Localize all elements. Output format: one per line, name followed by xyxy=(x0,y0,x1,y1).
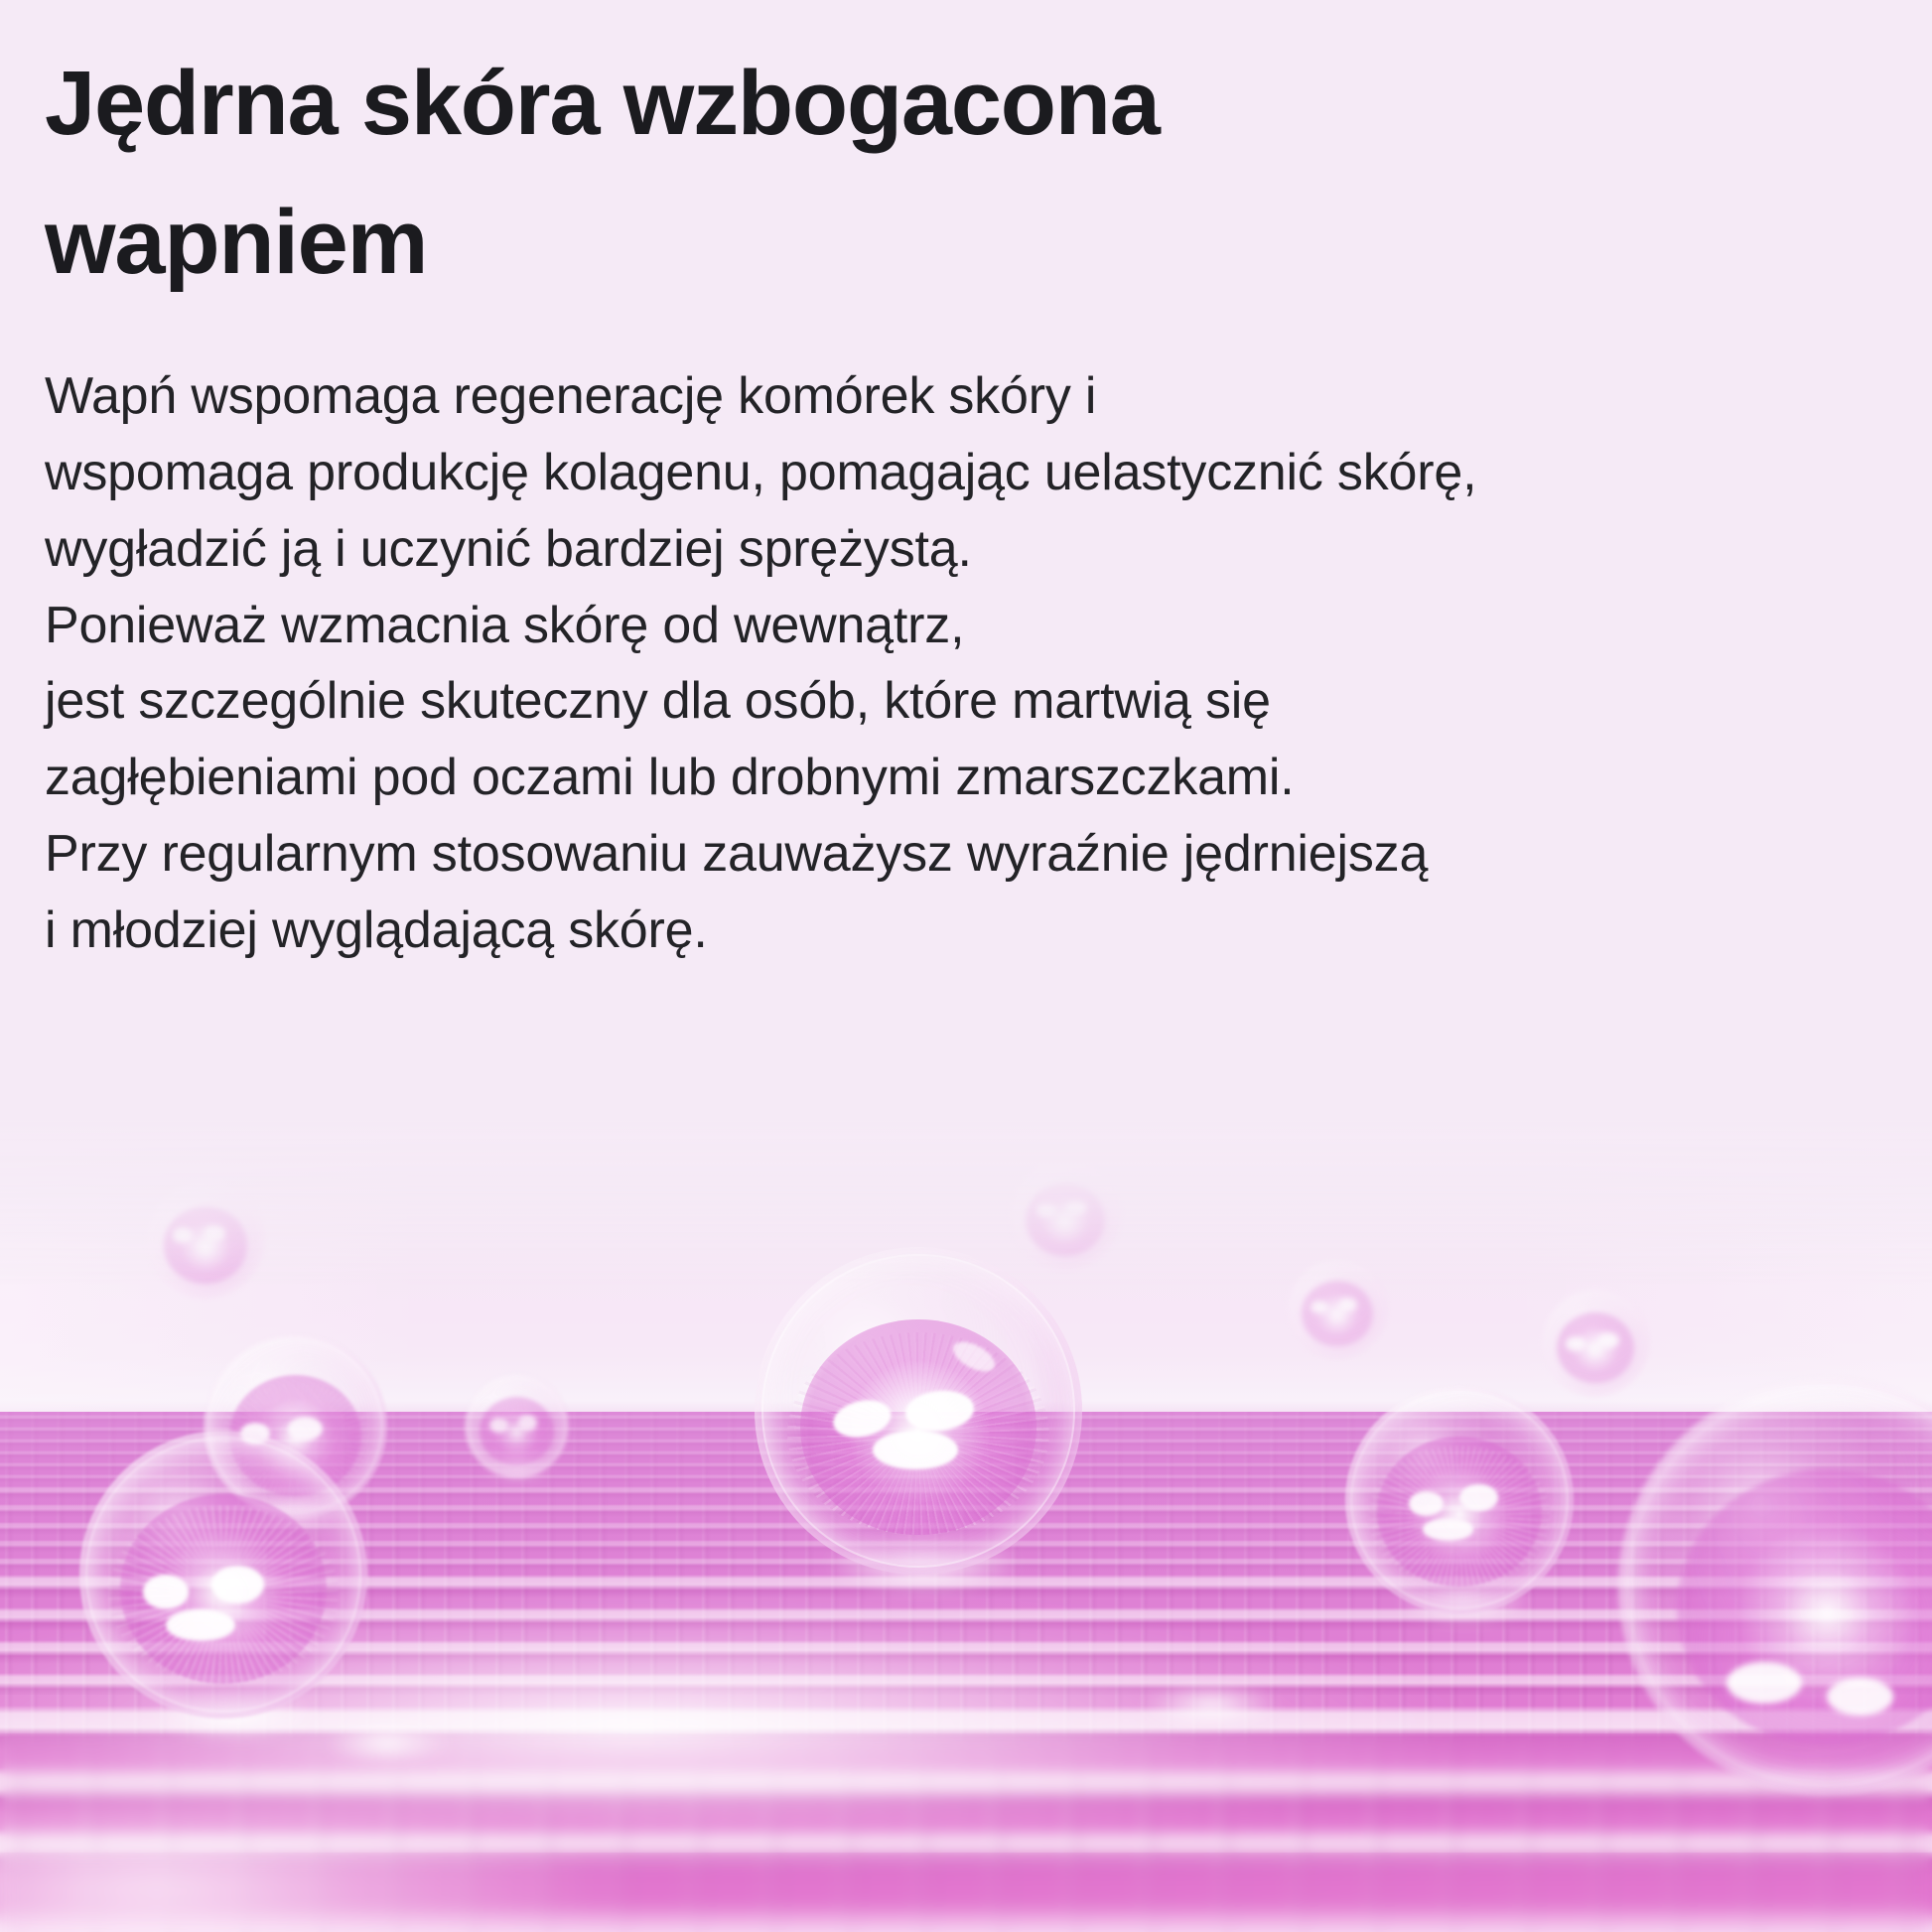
bubble-highlight xyxy=(518,1415,538,1431)
bubble-highlight xyxy=(1338,1298,1357,1311)
page-title-line-1: Jędrna skóra wzbogacona xyxy=(45,35,1524,174)
bubble-core xyxy=(164,1206,248,1284)
bubble-core xyxy=(1302,1281,1373,1346)
paragraph-2-line-1: Ponieważ wzmacnia skórę od wewnątrz, xyxy=(45,588,1832,664)
bubble-highlight xyxy=(143,1575,189,1609)
floating-bubble-upper-left xyxy=(147,1180,264,1298)
paragraph-1: Wapń wspomaga regenerację komórek skóry … xyxy=(45,358,1832,588)
floating-bubble-upper-right xyxy=(1288,1259,1387,1358)
hero-bubble xyxy=(755,1247,1082,1575)
body-copy: Wapń wspomaga regenerację komórek skóry … xyxy=(45,358,1832,970)
resting-bubble-small-center-left xyxy=(465,1374,569,1478)
bubble-highlight xyxy=(1566,1336,1587,1351)
bubble-highlight xyxy=(873,1431,958,1470)
paragraph-3: Przy regularnym stosowaniu zauważysz wyr… xyxy=(45,816,1832,969)
paragraph-2-line-2: jest szczególnie skuteczny dla osób, któ… xyxy=(45,663,1832,740)
paragraph-3-line-2: i młodziej wyglądającą skórę. xyxy=(45,893,1832,969)
paragraph-2-line-3: zagłębieniami pod oczami lub drobnymi zm… xyxy=(45,740,1832,816)
floating-bubble-upper-center xyxy=(1011,1160,1120,1269)
text-block: Jędrna skóra wzbogacona wapniem Wapń wsp… xyxy=(45,0,1832,969)
page-title-line-2: wapniem xyxy=(45,174,1524,313)
promo-panel: Jędrna skóra wzbogacona wapniem Wapń wsp… xyxy=(0,0,1932,1932)
bubble-highlight xyxy=(166,1609,235,1641)
product-background-image xyxy=(0,1118,1932,1932)
bubble-highlight xyxy=(1065,1200,1087,1215)
page-title: Jędrna skóra wzbogacona wapniem xyxy=(45,0,1524,313)
bubble-highlight xyxy=(489,1418,508,1433)
bubble-core xyxy=(480,1397,555,1465)
paragraph-1-line-2: wspomaga produkcję kolagenu, pomagając u… xyxy=(45,435,1832,511)
paragraph-2: Ponieważ wzmacnia skórę od wewnątrz, jes… xyxy=(45,588,1832,817)
bubble-refraction-streaks xyxy=(1368,1446,1551,1587)
bubble-highlight xyxy=(1726,1662,1802,1704)
bubble-core xyxy=(1026,1183,1104,1256)
floating-bubble-right-edge xyxy=(1542,1289,1649,1396)
bubble-highlight xyxy=(1311,1301,1328,1313)
resting-bubble-left-large xyxy=(79,1431,367,1719)
mesh-sparkle-center xyxy=(1112,1674,1311,1737)
bubble-highlight xyxy=(173,1227,193,1242)
resting-bubble-right-mid xyxy=(1345,1386,1574,1614)
bubble-highlight xyxy=(211,1566,263,1603)
bubble-highlight xyxy=(1827,1678,1893,1716)
paragraph-3-line-1: Przy regularnym stosowaniu zauważysz wyr… xyxy=(45,816,1832,893)
bubble-highlight xyxy=(1409,1491,1444,1516)
paragraph-1-line-1: Wapń wspomaga regenerację komórek skóry … xyxy=(45,358,1832,435)
paragraph-1-line-3: wygładzić ją i uczynić bardziej sprężyst… xyxy=(45,511,1832,588)
